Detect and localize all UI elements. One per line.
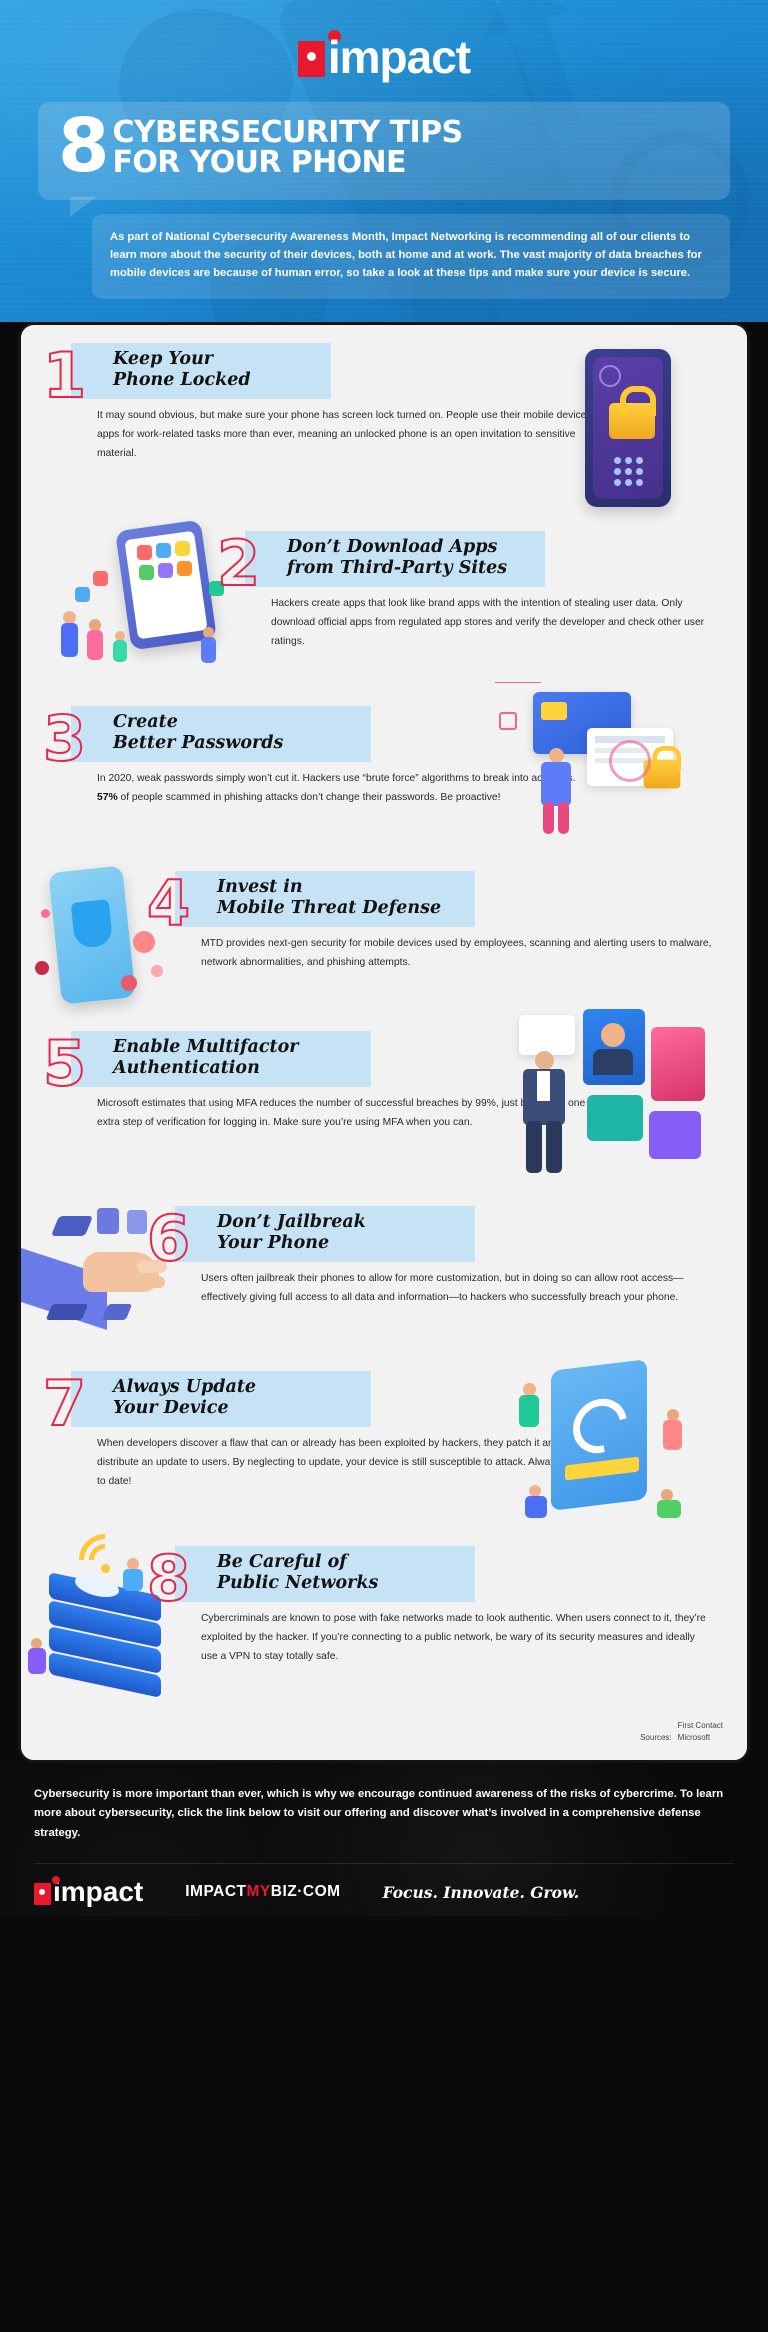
tip-2: 2 Don’t Download Apps from Third-Party S… [21,531,747,706]
footer-website-link[interactable]: IMPACTMYBIZ·COM [185,1883,340,1901]
tip-5-number: 5 [43,1033,86,1095]
tip-8-body: Cybercriminals are known to pose with fa… [201,1602,713,1666]
sources-label: Sources: [640,1733,672,1742]
tip-3-number: 3 [43,708,86,770]
intro-paragraph: As part of National Cybersecurity Awaren… [92,214,730,298]
tip-2-heading: Don’t Download Apps from Third-Party Sit… [287,537,507,578]
tip-1-number: 1 [43,345,86,407]
tip-1: 1 Keep Your Phone Locked It may sound ob… [21,343,747,531]
url-part-2: MY [247,1883,271,1900]
footer-tagline: Focus. Innovate. Grow. [383,1883,580,1902]
title-bubble: 8 CYBERSECURITY TIPS FOR YOUR PHONE [38,102,730,200]
impact-logo-mark [298,41,325,77]
footer-brand-bar: impact IMPACTMYBIZ·COM Focus. Innovate. … [34,1863,734,1906]
tip-4-heading: Invest in Mobile Threat Defense [217,877,441,918]
title-line-2: FOR YOUR PHONE [113,148,463,178]
tip-1-heading: Keep Your Phone Locked [113,349,251,390]
tip-5-heading: Enable Multifactor Authentication [113,1037,299,1078]
footer-logo-text: impact [53,1878,143,1906]
url-part-1: IMPACT [185,1883,246,1900]
tip-6-number: 6 [147,1208,190,1270]
illustration-phone-with-padlock [567,349,677,519]
tips-container: 1 Keep Your Phone Locked It may sound ob… [18,322,750,1763]
source-item-2: Microsoft [678,1733,710,1742]
tip-7: 7 Always Update Your Device When develop… [21,1371,747,1546]
tip-count: 8 [58,112,107,184]
tip-3-body-post: of people scammed in phishing attacks do… [118,792,501,803]
tip-2-number: 2 [217,533,260,595]
tip-3-heading: Create Better Passwords [113,712,283,753]
url-part-3: BIZ·COM [271,1883,341,1900]
footer-logo: impact [34,1878,143,1906]
footer-logo-mark [34,1883,51,1905]
tip-3: 3 Create Better Passwords In 2020, weak … [21,706,747,871]
tip-8: 8 Be Careful of Public Networks Cybercri… [21,1546,747,1716]
footer-logo-dot [52,1876,60,1884]
footer: Cybersecurity is more important than eve… [0,1763,768,1916]
tip-2-body: Hackers create apps that look like brand… [271,587,717,651]
illustration-fingerprint-credit-card-security [491,682,706,857]
illustration-businessman-verification-screens [501,1007,711,1197]
tip-6: 6 Don’t Jailbreak Your Phone Users often… [21,1206,747,1371]
tip-6-body: Users often jailbreak their phones to al… [201,1262,713,1307]
tip-4-body: MTD provides next-gen security for mobil… [201,927,713,972]
tip-7-heading: Always Update Your Device [113,1377,256,1418]
tip-5: 5 Enable Multifactor Authentication Micr… [21,1031,747,1206]
header-banner: impact 8 CYBERSECURITY TIPS FOR YOUR PHO… [0,0,768,322]
infographic-page: impact 8 CYBERSECURITY TIPS FOR YOUR PHO… [0,0,768,2332]
tip-8-number: 8 [147,1548,190,1610]
source-item-1: First Contact [678,1721,723,1730]
tip-6-heading: Don’t Jailbreak Your Phone [217,1212,366,1253]
tip-7-number: 7 [43,1373,86,1435]
tip-4-number: 4 [147,873,190,935]
sources-block: Sources:First ContactMicrosoft [21,1716,747,1746]
footer-paragraph: Cybersecurity is more important than eve… [34,1785,734,1843]
title-line-1: CYBERSECURITY TIPS [113,118,463,148]
impact-logo-text: impact [328,34,470,80]
tip-3-body-stat: 57% [97,792,118,803]
tip-1-body: It may sound obvious, but make sure your… [97,399,597,463]
header-logo: impact [0,0,768,80]
illustration-phone-update-progress [511,1357,711,1537]
illustration-people-browsing-app-store [53,519,243,697]
tip-8-heading: Be Careful of Public Networks [217,1552,378,1593]
